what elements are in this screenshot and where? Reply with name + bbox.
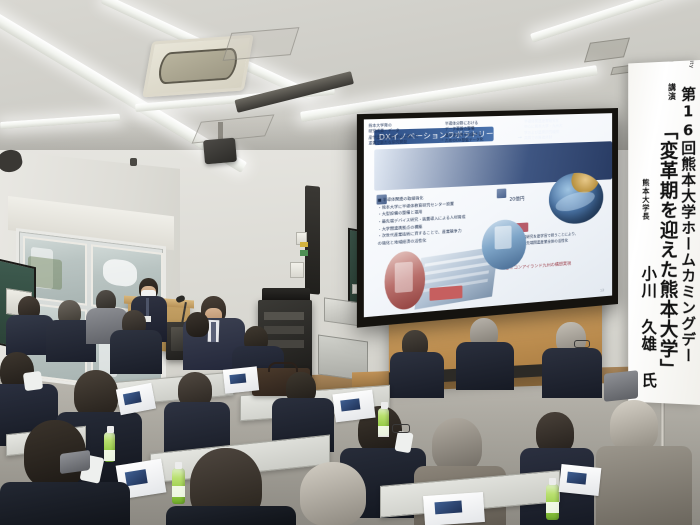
attendee-body bbox=[390, 352, 444, 398]
attendee-body bbox=[166, 506, 296, 525]
green-tea-bottle bbox=[378, 408, 389, 436]
attendee-face-mask bbox=[23, 371, 43, 391]
slide-amount-label: 20億円 bbox=[509, 196, 524, 203]
attendee-head bbox=[300, 462, 366, 525]
attendee-glasses bbox=[574, 340, 590, 348]
staff-lanyard bbox=[146, 298, 149, 318]
printed-handout bbox=[423, 492, 485, 525]
attendee-head bbox=[186, 312, 209, 337]
slide-bullet-list: ■ 半導体関連の取組強化 ・熊本大学に半導体教育研究センター設置 ・大型設備の整… bbox=[378, 192, 484, 248]
lecture-hall-photo: DXイノベーションラボラトリー 熊本大学発の 研究成果・データ 産学連携体制を中… bbox=[0, 0, 700, 525]
wall-indicator-yellow bbox=[300, 242, 308, 247]
ceiling-sensor-icon bbox=[130, 158, 137, 166]
green-tea-bottle bbox=[104, 432, 115, 462]
banner-speaker-name: 小川 久雄 氏 bbox=[640, 265, 655, 405]
ceiling-projector bbox=[203, 138, 237, 165]
attendee-body bbox=[596, 446, 692, 525]
banner-speaker-role: 熊本大学長 bbox=[642, 179, 649, 258]
attendee-face-mask bbox=[394, 431, 413, 453]
printed-handout bbox=[332, 390, 375, 423]
green-tea-bottle bbox=[546, 484, 559, 520]
banner-koen-label: 講演 bbox=[668, 83, 676, 123]
attendee-body bbox=[456, 342, 514, 390]
banner-event-line: 第16回熊本大学ホームカミングデー bbox=[680, 86, 695, 396]
chair-back bbox=[604, 370, 638, 402]
slide-hero-col-2: 半導体分野における データ基盤の整備 産学官連携を加速する ためのDX基盤データ… bbox=[445, 120, 516, 144]
wall-speaker bbox=[305, 185, 320, 294]
attendee-glasses bbox=[392, 424, 410, 433]
attendee-head bbox=[610, 400, 658, 452]
green-tea-bottle bbox=[172, 468, 185, 504]
printed-handout bbox=[223, 366, 259, 393]
attendee-head bbox=[432, 418, 482, 472]
slide-amount-chip bbox=[497, 189, 507, 199]
slide-globe-graphic bbox=[549, 172, 603, 226]
chair-back bbox=[60, 450, 90, 474]
wall-control-box[interactable] bbox=[290, 262, 304, 278]
kumamoto-university-logo: Kumamoto University bbox=[688, 60, 694, 69]
wall-indicator-green bbox=[300, 250, 308, 256]
speaker-tie bbox=[211, 322, 216, 342]
event-banner: Kumamoto University 第16回熊本大学ホームカミングデー 講演… bbox=[628, 60, 700, 405]
attendee-body bbox=[110, 330, 162, 374]
attendee-body bbox=[542, 348, 602, 398]
slide-hero-arrow-1: → bbox=[438, 136, 445, 143]
printed-handout bbox=[559, 464, 602, 496]
attendee-body bbox=[0, 482, 130, 525]
slide-hero-arrow-2: → bbox=[517, 134, 523, 140]
presentation-slide: DXイノベーションラボラトリー 熊本大学発の 研究成果・データ 産学連携体制を中… bbox=[364, 113, 612, 317]
slide-hero-col-1: 熊本大学発の 研究成果・データ 産学連携体制を中心に据えた 重要で新たな研究開発 bbox=[368, 122, 438, 147]
slide-page-number: 12 bbox=[600, 288, 604, 292]
attendee-head bbox=[74, 370, 118, 418]
banner-lecture-title: 「変革期を迎えた熊本大学」 bbox=[658, 121, 676, 399]
slide-hero-col-3: 半導体関連産業研究を 中心に熊本大学・九州大 学および連携研究機関 共同での推進… bbox=[524, 118, 597, 142]
projection-screen: DXイノベーションラボラトリー 熊本大学発の 研究成果・データ 産学連携体制を中… bbox=[357, 108, 618, 328]
